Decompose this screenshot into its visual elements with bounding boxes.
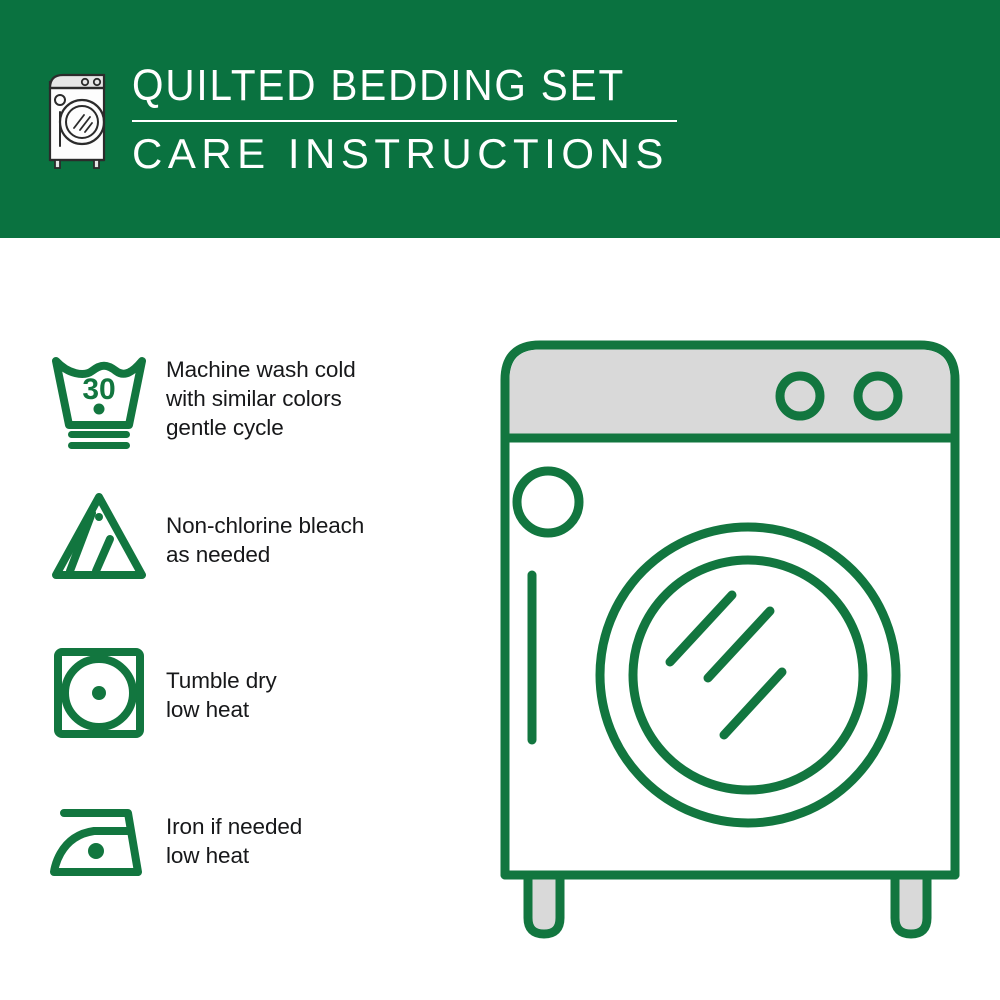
care-item-iron: Iron if needed low heat bbox=[44, 788, 302, 898]
care-item-tumble-dry: Tumble dry low heat bbox=[44, 638, 277, 748]
washing-machine-illustration bbox=[480, 320, 980, 950]
washing-machine-logo-icon bbox=[44, 62, 112, 172]
care-item-text: Iron if needed low heat bbox=[166, 788, 302, 870]
care-item-bleach: Non-chlorine bleach as needed bbox=[44, 483, 364, 593]
care-item-text: Non-chlorine bleach as needed bbox=[166, 483, 364, 569]
care-instruction-list: 30 Machine wash cold with similar colors… bbox=[0, 238, 500, 1000]
bleach-triangle-icon bbox=[44, 483, 154, 593]
care-item-text: Machine wash cold with similar colors ge… bbox=[166, 343, 356, 442]
care-item-text: Tumble dry low heat bbox=[166, 638, 277, 724]
iron-one-dot-icon bbox=[44, 788, 154, 898]
wash-temperature-label: 30 bbox=[82, 373, 115, 406]
page-header: QUILTED BEDDING SET CARE INSTRUCTIONS bbox=[0, 0, 1000, 238]
header-content: QUILTED BEDDING SET CARE INSTRUCTIONS bbox=[44, 62, 677, 177]
machine-leg-right bbox=[895, 875, 927, 934]
wash-tub-30-icon: 30 bbox=[44, 343, 154, 453]
care-instructions-page: QUILTED BEDDING SET CARE INSTRUCTIONS 30… bbox=[0, 0, 1000, 1000]
page-subtitle: CARE INSTRUCTIONS bbox=[132, 131, 677, 177]
header-titles: QUILTED BEDDING SET CARE INSTRUCTIONS bbox=[132, 62, 677, 177]
machine-leg-left bbox=[528, 875, 560, 934]
tumble-dry-square-icon bbox=[44, 638, 154, 748]
care-item-machine-wash: 30 Machine wash cold with similar colors… bbox=[44, 343, 356, 453]
title-divider bbox=[132, 120, 677, 122]
control-panel bbox=[510, 350, 951, 439]
page-title: QUILTED BEDDING SET bbox=[132, 62, 633, 110]
